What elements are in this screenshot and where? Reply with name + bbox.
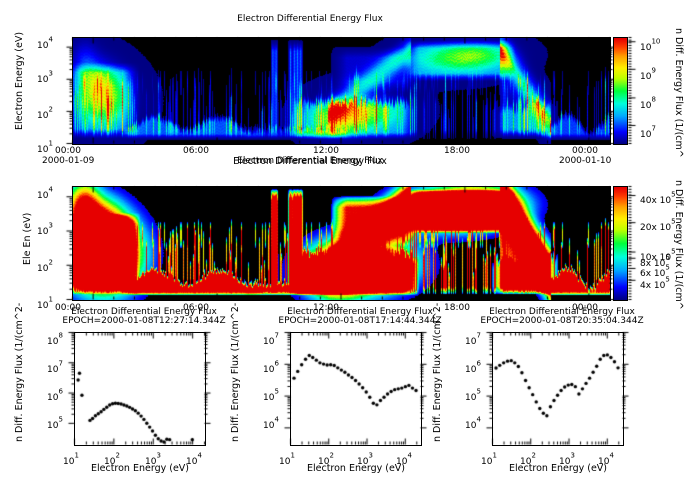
middle-panel-ytick-4: 104 xyxy=(37,183,53,202)
b1-yt1-m: 10 xyxy=(47,421,58,431)
b2-yt4-e: 7 xyxy=(274,332,278,340)
b3-xt4-e: 4 xyxy=(609,452,613,460)
b3-yt4-m: 10 xyxy=(465,337,476,347)
b3-yt3-m: 10 xyxy=(465,365,476,375)
b3-xt1-e: 1 xyxy=(492,452,496,460)
top-ytick1-mantissa: 10 xyxy=(37,145,48,155)
b1-yt4-m: 10 xyxy=(47,337,58,347)
b2-ytick-2: 105 xyxy=(263,385,279,404)
top-panel-ylabel: Electron Energy (eV) xyxy=(14,32,25,130)
top-panel-title: Electron Differential Energy Flux xyxy=(0,14,620,24)
top-panel-ytick-1: 101 xyxy=(37,137,53,156)
b2-ytick-3: 106 xyxy=(263,357,279,376)
top-colorbar xyxy=(613,37,628,145)
top-ytick1-exp: 1 xyxy=(48,140,52,148)
b2-yt4-m: 10 xyxy=(263,337,274,347)
middle-panel-ytick-2: 102 xyxy=(37,256,53,275)
top-ytick2-mantissa: 10 xyxy=(37,111,48,121)
b3-yt2-m: 10 xyxy=(465,393,476,403)
b3-ytick-4: 107 xyxy=(465,329,481,348)
top-cbt2-exp: 9 xyxy=(651,67,655,75)
mid-ytick4-mantissa: 10 xyxy=(37,191,48,201)
b3-ylabel: n Diff. Energy Flux (1/(cm^2- xyxy=(432,303,443,442)
b2-xt2-e: 2 xyxy=(329,452,333,460)
b2-ytick-1: 104 xyxy=(263,413,279,432)
b3-yt1-m: 10 xyxy=(465,421,476,431)
top-cb-tick-3: 108 xyxy=(640,93,656,112)
mid-cbt6-mantissa: 4x 10 xyxy=(640,281,665,291)
mid-ytick4-exp: 4 xyxy=(48,186,52,194)
b2-yt2-m: 10 xyxy=(263,393,274,403)
b1-ytick-4: 108 xyxy=(47,329,63,348)
mid-cb-tick-1: 40x 105 xyxy=(640,188,676,207)
b1-xt4-e: 4 xyxy=(197,452,201,460)
b3-yt3-e: 6 xyxy=(476,360,480,368)
b1-xt2-e: 2 xyxy=(115,452,119,460)
top-xtick-3: 12:00 xyxy=(313,146,339,156)
b2-xlabel: Electron Energy (eV) xyxy=(276,463,436,474)
top-cbt4-mantissa: 10 xyxy=(640,130,651,140)
b3-yt4-e: 7 xyxy=(476,332,480,340)
mid-cbt5-exp: 5 xyxy=(665,264,669,272)
mid-ytick3-exp: 3 xyxy=(48,222,52,230)
middle-panel-ytick-3: 103 xyxy=(37,219,53,238)
b1-yt2-m: 10 xyxy=(47,393,58,403)
mid-ytick2-mantissa: 10 xyxy=(37,264,48,274)
b1-ytick-2: 106 xyxy=(47,385,63,404)
b1-xlabel: Electron Energy (eV) xyxy=(60,463,220,474)
b2-ylabel: n Diff. Energy Flux (1/(cm^2- xyxy=(230,303,241,442)
b1-xt3-e: 3 xyxy=(156,452,160,460)
top-cbt4-exp: 7 xyxy=(651,125,655,133)
b2-yt1-m: 10 xyxy=(263,421,274,431)
mid-cb-tick-6: 4x 105 xyxy=(640,273,670,292)
mid-ytick3-mantissa: 10 xyxy=(37,227,48,237)
b1-subtitle: EPOCH=2000-01-08T12:27:14.344Z xyxy=(34,316,254,326)
b1-ytick-1: 105 xyxy=(47,413,63,432)
middle-colorbar xyxy=(613,186,628,301)
top-ytick3-mantissa: 10 xyxy=(37,75,48,85)
top-ytick4-mantissa: 10 xyxy=(37,41,48,51)
b3-ytick-1: 104 xyxy=(465,413,481,432)
top-cb-tick-4: 107 xyxy=(640,122,656,141)
b1-yt1-e: 5 xyxy=(58,416,62,424)
top-cb-tick-2: 109 xyxy=(640,64,656,83)
top-ytick4-exp: 4 xyxy=(48,36,52,44)
b2-yt3-e: 6 xyxy=(274,360,278,368)
top-spectrogram-canvas xyxy=(72,37,611,145)
b3-scatter-canvas xyxy=(492,332,624,446)
b2-ytick-4: 107 xyxy=(263,329,279,348)
b3-subtitle: EPOCH=2000-01-08T20:35:04.344Z xyxy=(452,316,672,326)
b1-yt2-e: 6 xyxy=(58,388,62,396)
b3-ytick-2: 105 xyxy=(465,385,481,404)
mid-cbt1-mantissa: 40x 10 xyxy=(640,196,671,206)
b2-xt1-e: 1 xyxy=(290,452,294,460)
b2-yt1-e: 4 xyxy=(274,416,278,424)
top-ytick2-exp: 2 xyxy=(48,106,52,114)
top-cbt3-exp: 8 xyxy=(651,96,655,104)
mid-cbt2-mantissa: 20x 10 xyxy=(640,223,671,233)
top-colorbar-label-wrap: n Diff. Energy Flux (1/(cm^ xyxy=(684,28,697,39)
b3-yt2-e: 5 xyxy=(476,388,480,396)
top-cbt1-mantissa: 10 xyxy=(640,43,651,53)
mid-ytick2-exp: 2 xyxy=(48,259,52,267)
top-panel-ytick-2: 102 xyxy=(37,103,53,122)
b1-yt3-m: 10 xyxy=(47,365,58,375)
middle-colorbar-label-wrap: n Diff. Energy Flux (1/(cm^ xyxy=(684,180,697,191)
top-panel-ytick-4: 104 xyxy=(37,33,53,52)
mid-cbt6-exp: 5 xyxy=(665,276,669,284)
top-cb-tick-1: 1010 xyxy=(640,35,660,54)
top-xtick-1: 00:00 xyxy=(55,146,81,156)
middle-panel-ylabel: Ele En (eV) xyxy=(22,213,33,265)
middle-panel-title: Electron Differential Energy Flux xyxy=(0,156,620,166)
b3-ytick-3: 106 xyxy=(465,357,481,376)
b3-xt2-e: 2 xyxy=(531,452,535,460)
b2-scatter-canvas xyxy=(290,332,422,446)
b1-ytick-3: 107 xyxy=(47,357,63,376)
top-cbt1-exp: 10 xyxy=(651,38,660,46)
b3-xt3-e: 3 xyxy=(570,452,574,460)
top-xtick-2: 06:00 xyxy=(183,146,209,156)
middle-colorbar-label: n Diff. Energy Flux (1/(cm^ xyxy=(673,180,684,310)
top-xtick-4: 18:00 xyxy=(444,146,470,156)
b2-yt2-e: 5 xyxy=(274,388,278,396)
top-xtick-5: 00:00 xyxy=(572,146,598,156)
b1-yt4-e: 8 xyxy=(58,332,62,340)
top-colorbar-label: n Diff. Energy Flux (1/(cm^ xyxy=(673,28,684,158)
b1-xt1-e: 1 xyxy=(74,452,78,460)
top-ytick3-exp: 3 xyxy=(48,70,52,78)
mid-cb-tick-2: 20x 105 xyxy=(640,215,676,234)
top-cbt3-mantissa: 10 xyxy=(640,101,651,111)
b1-ylabel: n Diff. Energy Flux (1/(cm^2- xyxy=(14,303,25,442)
b2-xt4-e: 4 xyxy=(407,452,411,460)
b1-yt3-e: 7 xyxy=(58,360,62,368)
b3-yt1-e: 4 xyxy=(476,416,480,424)
b3-xlabel: Electron Energy (eV) xyxy=(478,463,638,474)
middle-spectrogram-canvas xyxy=(72,186,611,301)
b2-yt3-m: 10 xyxy=(263,365,274,375)
b1-scatter-canvas xyxy=(74,332,206,446)
top-panel-ytick-3: 103 xyxy=(37,67,53,86)
top-cbt2-mantissa: 10 xyxy=(640,72,651,82)
b2-xt3-e: 3 xyxy=(368,452,372,460)
mid-ytick1-exp: 1 xyxy=(48,296,52,304)
